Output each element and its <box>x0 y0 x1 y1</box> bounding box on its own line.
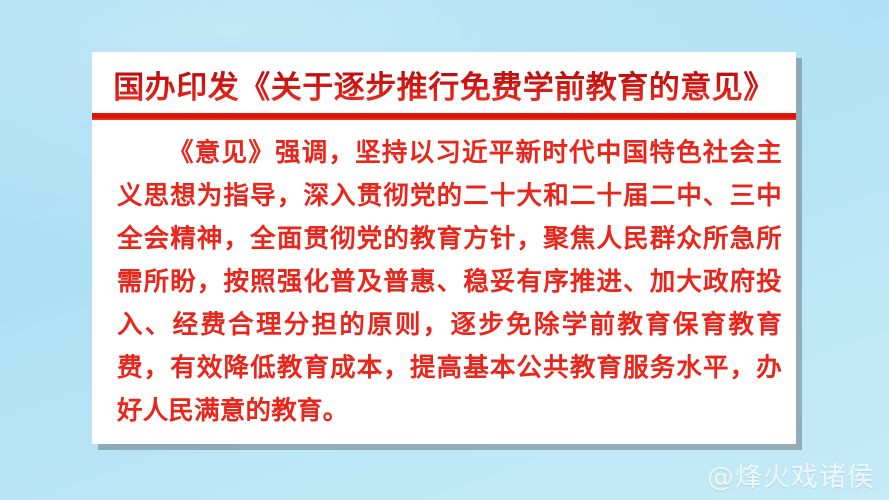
body-paragraph: 《意见》强调，坚持以习近平新时代中国特色社会主义思想为指导，深入贯彻党的二十大和… <box>117 132 782 433</box>
slide-canvas: 国办印发《关于逐步推行免费学前教育的意见》 《意见》强调，坚持以习近平新时代中国… <box>0 0 889 500</box>
watermark-label: @烽火戏诸侯 <box>707 455 875 494</box>
page-title: 国办印发《关于逐步推行免费学前教育的意见》 <box>92 62 796 114</box>
title-divider-rule <box>92 113 796 120</box>
content-card: 国办印发《关于逐步推行免费学前教育的意见》 《意见》强调，坚持以习近平新时代中国… <box>92 52 796 444</box>
